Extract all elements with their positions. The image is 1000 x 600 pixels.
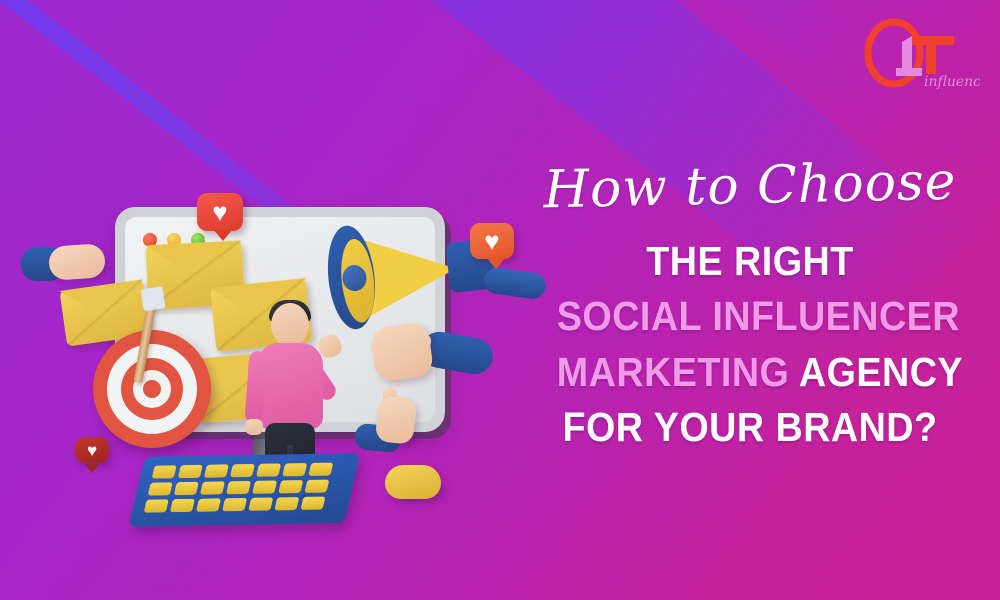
headline-word-marketing: MARKETING: [557, 349, 790, 395]
heart-bubble-orange: ♥: [470, 223, 514, 259]
heart-icon: ♥: [197, 193, 243, 231]
logo-letter-t-stem: [926, 36, 936, 74]
heart-icon: ♥: [75, 437, 109, 463]
headline-line-1: THE RIGHT: [557, 234, 943, 289]
heart-icon: ♥: [470, 223, 514, 259]
logo-mark: influence: [862, 16, 980, 96]
headline-line-4: FOR YOUR BRAND?: [557, 400, 943, 455]
pointing-hand: [48, 243, 106, 281]
hero-illustration: ♥ ♥ ♥: [55, 175, 475, 555]
headline-block: How to Choose THE RIGHT SOCIAL INFLUENCE…: [540, 160, 960, 455]
heart-bubble-small: ♥: [75, 437, 109, 463]
headline-main: THE RIGHT SOCIAL INFLUENCER MARKETING AG…: [557, 234, 943, 455]
marketing-banner: influence: [0, 0, 1000, 600]
headline-line-3: MARKETING AGENCY: [557, 345, 943, 400]
megaphone-hand: [370, 321, 435, 383]
thumbs-up-hand: [375, 395, 418, 445]
headline-line-2: SOCIAL INFLUENCER: [557, 289, 943, 344]
headline-word-agency: AGENCY: [799, 349, 963, 395]
script-eyebrow: How to Choose: [540, 156, 961, 217]
logo-wordmark: influence: [924, 74, 980, 90]
computer-mouse-icon: [385, 465, 441, 499]
keyboard-icon: [128, 453, 360, 527]
logo-digit-one-base: [896, 68, 922, 76]
brand-logo[interactable]: influence: [862, 16, 980, 96]
heart-bubble-red: ♥: [197, 193, 243, 231]
target-dartboard-icon: [93, 330, 211, 448]
